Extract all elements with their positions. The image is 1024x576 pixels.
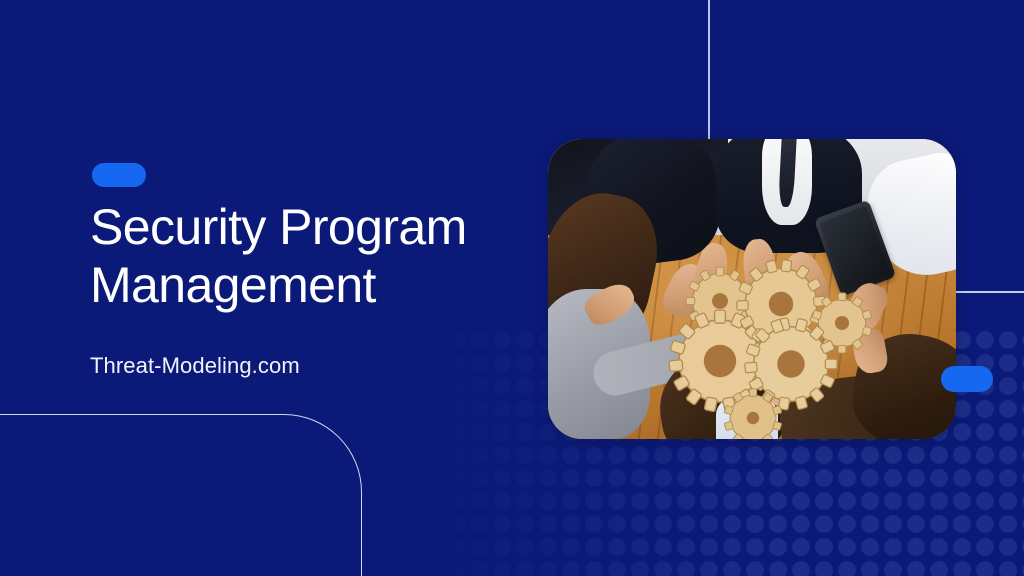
site-subtitle: Threat-Modeling.com: [90, 353, 520, 379]
accent-pill-right: [941, 366, 993, 392]
page-title: Security Program Management: [90, 198, 520, 314]
presentation-slide: Security Program Management Threat-Model…: [0, 0, 1024, 576]
right-horizontal-line-decoration: [954, 291, 1024, 293]
wooden-gear-bottom-small: [722, 387, 784, 439]
bottom-left-corner-curve-decoration: [0, 414, 362, 576]
top-vertical-line-decoration: [708, 0, 710, 142]
title-block: Security Program Management Threat-Model…: [90, 198, 520, 379]
accent-pill-left: [92, 163, 146, 187]
hero-photo-card: [548, 139, 956, 439]
team-collaboration-photo: [548, 139, 956, 439]
